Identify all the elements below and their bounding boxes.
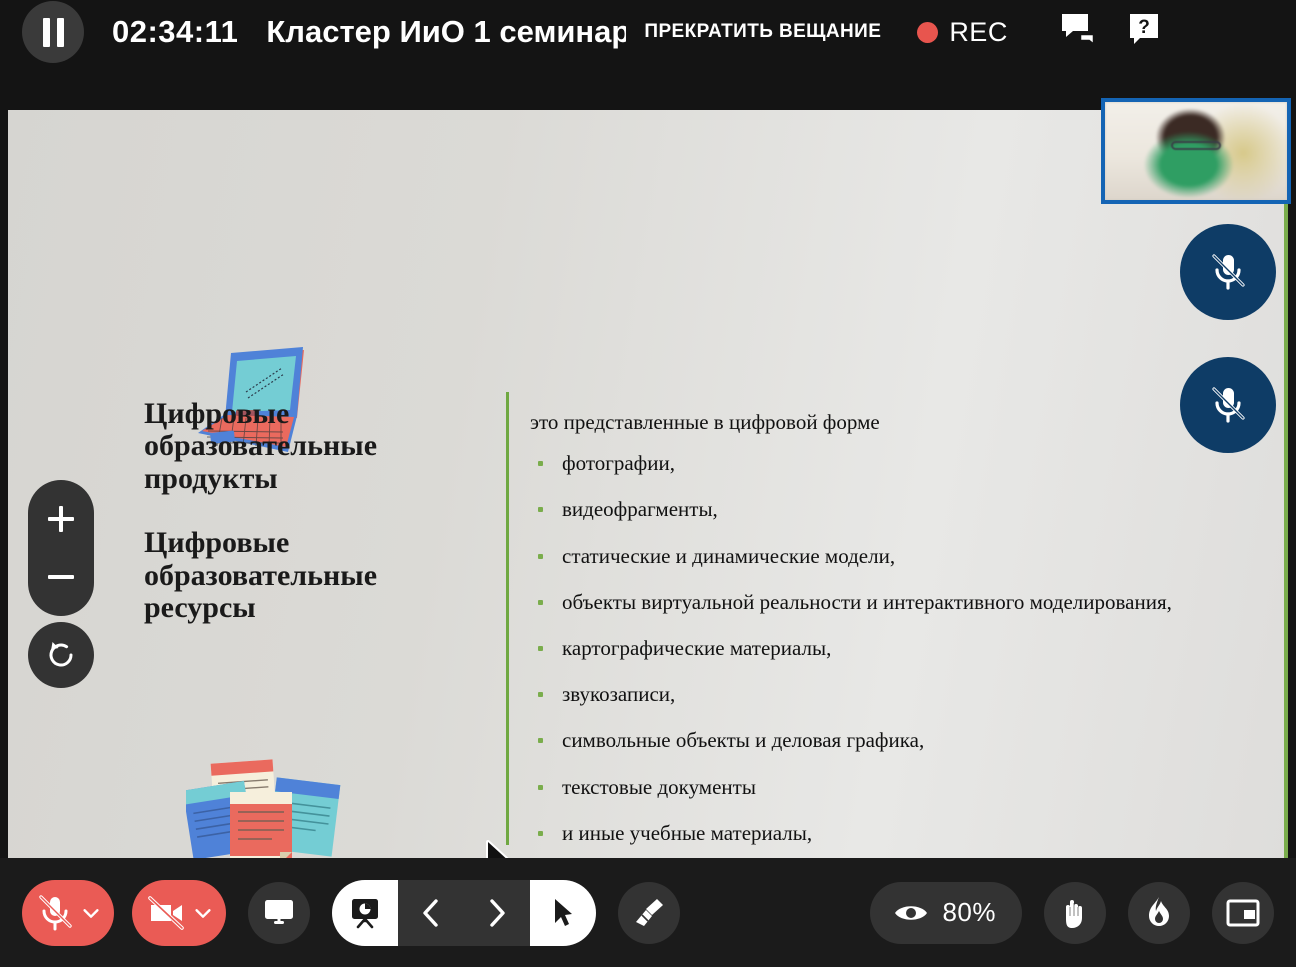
bottom-toolbar: 80% <box>0 858 1296 967</box>
list-item: и иные учебные материалы, <box>530 821 1230 846</box>
mic-muted-icon <box>1208 250 1248 294</box>
zoom-in-button[interactable] <box>44 502 78 536</box>
documents-illustration <box>186 750 346 858</box>
zoom-level-value: 80% <box>942 897 996 928</box>
hand-raise-icon <box>1060 896 1090 930</box>
slide-stage[interactable]: Цифровые образовательные продукты Цифров… <box>8 110 1288 858</box>
chat-icon[interactable] <box>1060 12 1100 53</box>
pointer-tool-button[interactable] <box>530 880 596 946</box>
flame-icon <box>1146 896 1172 930</box>
webcam-self-view[interactable] <box>1101 98 1291 204</box>
top-bar-actions: ? <box>1060 12 1160 53</box>
next-slide-button[interactable] <box>464 880 530 946</box>
reactions-button[interactable] <box>1128 882 1190 944</box>
record-label: REC <box>949 17 1008 48</box>
heading-2: Цифровые образовательные ресурсы <box>144 527 444 624</box>
webcam-video <box>1105 102 1287 200</box>
chevron-down-icon <box>192 902 214 924</box>
content-lead: это представленные в цифровой форме <box>530 410 1230 435</box>
list-item: объекты виртуальной реальности и интерак… <box>530 590 1230 615</box>
slide-divider-line <box>506 392 509 845</box>
svg-text:?: ? <box>1138 17 1150 38</box>
chevron-down-icon <box>80 902 102 924</box>
pause-icon <box>43 18 64 47</box>
list-item: фотографии, <box>530 451 1230 476</box>
chevron-left-icon <box>418 898 444 928</box>
eraser-tool-button[interactable] <box>618 882 680 944</box>
presentation-control-group <box>332 880 596 946</box>
webcam-face-detail <box>1171 141 1222 150</box>
top-bar: 02:34:11 Кластер ИиО 1 семинар ПРЕКРАТИТ… <box>0 0 1296 88</box>
slide-headings: Цифровые образовательные продукты Цифров… <box>144 398 444 624</box>
presentation-board-icon <box>349 897 381 929</box>
camera-toggle-button[interactable] <box>132 880 226 946</box>
session-timer: 02:34:11 <box>112 14 238 50</box>
recording-indicator: REC <box>917 17 1008 48</box>
reset-rotate-icon <box>44 638 78 672</box>
eye-icon <box>894 901 928 925</box>
reset-view-button[interactable] <box>28 622 94 688</box>
list-item: картографические материалы, <box>530 636 1230 661</box>
mic-muted-icon <box>1208 383 1248 427</box>
picture-in-picture-button[interactable] <box>1212 882 1274 944</box>
share-screen-button[interactable] <box>248 882 310 944</box>
list-item: символьные объекты и деловая графика, <box>530 728 1230 753</box>
participant-muted-avatar-1[interactable] <box>1180 224 1276 320</box>
record-dot-icon <box>917 22 938 43</box>
prev-slide-button[interactable] <box>398 880 464 946</box>
stop-broadcast-button[interactable]: ПРЕКРАТИТЬ ВЕЩАНИЕ <box>644 21 881 43</box>
presentation-button[interactable] <box>332 880 398 946</box>
session-title: Кластер ИиО 1 семинар <box>266 14 626 50</box>
list-item: видеофрагменты, <box>530 497 1230 522</box>
list-item: статические и динамические модели, <box>530 544 1230 569</box>
zoom-controls <box>28 480 94 616</box>
chevron-right-icon <box>484 898 510 928</box>
monitor-icon <box>263 898 295 928</box>
mic-muted-icon <box>36 892 74 934</box>
list-item: текстовые документы <box>530 775 1230 800</box>
camera-off-icon <box>146 892 186 934</box>
brush-eraser-icon <box>633 897 665 929</box>
broadcast-viewer-app: 02:34:11 Кластер ИиО 1 семинар ПРЕКРАТИТ… <box>0 0 1296 967</box>
zoom-level-button[interactable]: 80% <box>870 882 1022 944</box>
content-bullet-list: фотографии, видеофрагменты, статические … <box>530 451 1230 846</box>
participant-muted-avatar-2[interactable] <box>1180 357 1276 453</box>
pause-button[interactable] <box>22 1 84 63</box>
cursor-arrow-icon <box>551 897 575 929</box>
slide-accent-edge <box>1284 110 1288 858</box>
cursor-arrow-icon <box>482 840 526 858</box>
slide-content: это представленные в цифровой форме фото… <box>530 410 1230 858</box>
mic-toggle-button[interactable] <box>22 880 114 946</box>
list-item: звукозаписи, <box>530 682 1230 707</box>
zoom-out-button[interactable] <box>44 560 78 594</box>
heading-1: Цифровые образовательные продукты <box>144 398 444 495</box>
raise-hand-button[interactable] <box>1044 882 1106 944</box>
picture-in-picture-icon <box>1226 899 1260 927</box>
help-icon[interactable]: ? <box>1128 12 1160 53</box>
